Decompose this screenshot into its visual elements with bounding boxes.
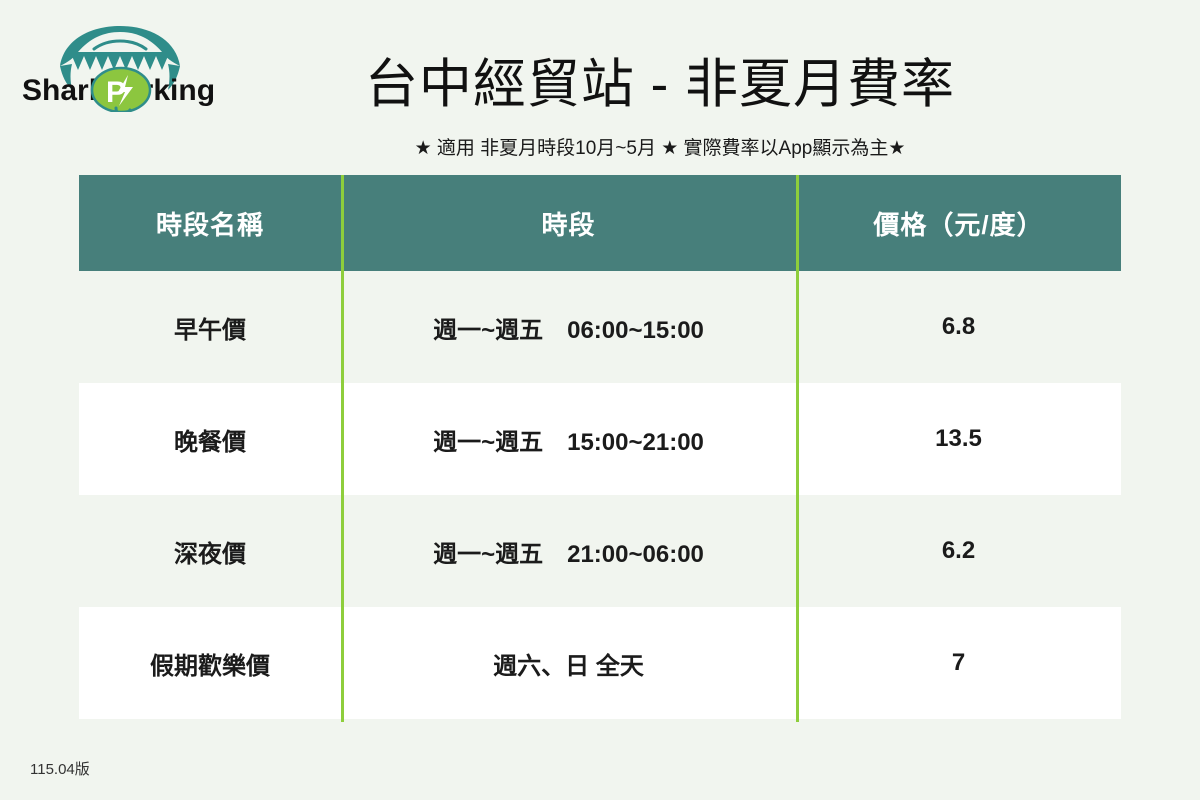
cell-period: 週一~週五 21:00~06:00 bbox=[341, 495, 796, 607]
cell-price: 6.8 bbox=[796, 271, 1121, 383]
page-subtitle: ★ 適用 非夏月時段10月~5月 ★ 實際費率以App顯示為主★ bbox=[230, 133, 1090, 160]
table-row: 假期歡樂價 週六、日 全天 7 bbox=[79, 607, 1121, 719]
table-header-row: 時段名稱 時段 價格（元/度） bbox=[79, 175, 1121, 271]
cell-price: 7 bbox=[796, 607, 1121, 719]
table-row: 深夜價 週一~週五 21:00~06:00 6.2 bbox=[79, 495, 1121, 607]
page-title: 台中經貿站 - 非夏月費率 bbox=[230, 55, 1090, 116]
pricing-poster: Shark arking P 台中經貿站 - 非夏月費率 ★ 適用 非夏月時段1… bbox=[0, 0, 1200, 800]
column-divider-1 bbox=[341, 175, 344, 722]
cell-price: 6.2 bbox=[796, 495, 1121, 607]
cell-price: 13.5 bbox=[796, 383, 1121, 495]
cell-period: 週一~週五 15:00~21:00 bbox=[341, 383, 796, 495]
table-row: 晚餐價 週一~週五 15:00~21:00 13.5 bbox=[79, 383, 1121, 495]
cell-period-name: 深夜價 bbox=[79, 495, 341, 607]
column-header-period-name: 時段名稱 bbox=[79, 175, 341, 271]
rate-table: 時段名稱 時段 價格（元/度） 早午價 週一~週五 06:00~15:00 6.… bbox=[79, 175, 1121, 722]
version-label: 115.04版 bbox=[30, 758, 90, 779]
column-header-price: 價格（元/度） bbox=[796, 175, 1121, 271]
cell-period: 週一~週五 06:00~15:00 bbox=[341, 271, 796, 383]
column-header-period: 時段 bbox=[341, 175, 796, 271]
cell-period-name: 假期歡樂價 bbox=[79, 607, 341, 719]
cell-period-name: 早午價 bbox=[79, 271, 341, 383]
column-divider-2 bbox=[796, 175, 799, 722]
shark-parking-logo: Shark arking P bbox=[20, 22, 220, 112]
table-row: 早午價 週一~週五 06:00~15:00 6.8 bbox=[79, 271, 1121, 383]
logo-emblem-letter: P bbox=[106, 76, 126, 109]
cell-period: 週六、日 全天 bbox=[341, 607, 796, 719]
shark-head-icon: Shark arking P bbox=[20, 22, 220, 112]
cell-period-name: 晚餐價 bbox=[79, 383, 341, 495]
